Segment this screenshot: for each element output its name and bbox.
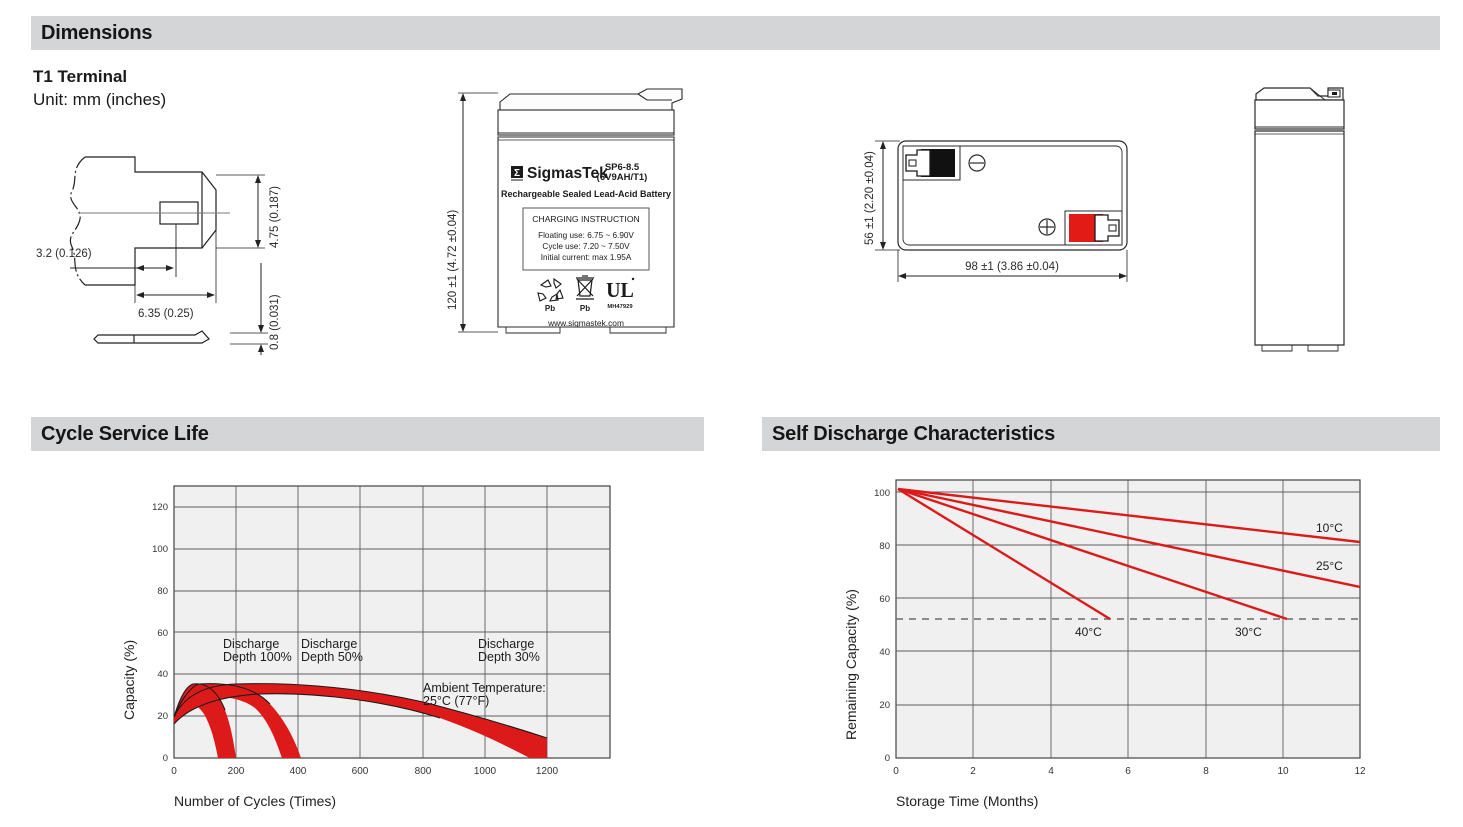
series-label-30c: 30°C (1235, 625, 1262, 639)
svg-text:Discharge: Discharge (223, 637, 279, 651)
series-label-10c: 10°C (1316, 521, 1343, 535)
charging-line-1: Cycle use: 7.20 ~ 7.50V (542, 242, 630, 251)
section-header-self-discharge: Self Discharge Characteristics (762, 417, 1440, 451)
section-header-cycle-service-life: Cycle Service Life (31, 417, 704, 451)
positive-sign-icon (1039, 219, 1055, 235)
ul-file-number: MH47929 (607, 304, 633, 310)
svg-text:0: 0 (163, 753, 168, 764)
dim-height-label: 4.75 (0.187) (269, 186, 281, 248)
svg-text:Depth 50%: Depth 50% (301, 650, 363, 664)
svg-text:80: 80 (879, 541, 890, 552)
svg-text:0: 0 (893, 766, 899, 777)
svg-text:100: 100 (152, 544, 168, 555)
self-x-ticks: 0 2 4 6 8 10 12 (893, 766, 1366, 777)
dim-thickness-label: 0.8 (0.031) (269, 294, 281, 350)
svg-text:0: 0 (885, 753, 890, 764)
battery-subtitle: Rechargeable Sealed Lead-Acid Battery (501, 189, 671, 199)
self-discharge-chart: 0 20 40 60 80 100 0 2 4 6 8 10 12 10°C 2… (820, 470, 1390, 815)
website-label: www.sigmastek.com (547, 318, 624, 328)
battery-top-view: 56 ±1 (2.20 ±0.04) 98 ±1 (3.86 ±0.04) (820, 110, 1140, 290)
battery-width-dim: 98 ±1 (3.86 ±0.04) (965, 261, 1059, 273)
svg-text:40: 40 (157, 669, 168, 680)
cycle-y-axis-label: Capacity (%) (121, 640, 137, 720)
series-label-40c: 40°C (1075, 625, 1102, 639)
cycle-x-ticks: 0 200 400 600 800 1000 1200 (171, 766, 558, 777)
wheelie-pb-label: Pb (580, 304, 590, 313)
battery-label-brand: Σ SigmasTek SP6-8.5 (6V9AH/T1) (511, 162, 647, 183)
svg-text:Discharge: Discharge (301, 637, 357, 651)
battery-height-dim: 120 ±1 (4.72 ±0.04) (447, 210, 459, 310)
negative-terminal (903, 146, 960, 180)
svg-text:1000: 1000 (474, 766, 497, 777)
section-title: Self Discharge Characteristics (772, 423, 1055, 446)
section-title: Dimensions (41, 22, 152, 45)
svg-text:60: 60 (157, 628, 168, 639)
cycle-y-ticks: 0 20 40 60 80 100 120 (152, 502, 168, 764)
svg-text:60: 60 (879, 594, 890, 605)
svg-text:10: 10 (1277, 766, 1289, 777)
cycle-plot-area (174, 486, 610, 758)
negative-sign-icon (969, 155, 985, 171)
section-header-dimensions: Dimensions (31, 16, 1440, 50)
svg-text:100: 100 (874, 488, 890, 499)
svg-text:6: 6 (1125, 766, 1131, 777)
charging-title: CHARGING INSTRUCTION (532, 214, 639, 224)
svg-text:Depth 100%: Depth 100% (223, 650, 292, 664)
svg-text:4: 4 (1048, 766, 1054, 777)
svg-text:400: 400 (290, 766, 307, 777)
self-y-axis-label: Remaining Capacity (%) (843, 589, 859, 740)
cycle-service-life-chart: 0 20 40 60 80 100 120 0 200 400 600 800 … (110, 470, 650, 815)
svg-text:20: 20 (157, 711, 168, 722)
svg-text:Ambient Temperature:: Ambient Temperature: (423, 681, 546, 695)
battery-depth-dim: 56 ±1 (2.20 ±0.04) (864, 151, 876, 245)
positive-terminal (1065, 211, 1122, 245)
battery-front-view: 120 ±1 (4.72 ±0.04) Σ SigmasTek SP6-8.5 … (410, 80, 720, 350)
self-y-ticks: 0 20 40 60 80 100 (874, 488, 890, 764)
section-title: Cycle Service Life (41, 423, 209, 446)
svg-text:80: 80 (157, 586, 168, 597)
svg-text:600: 600 (352, 766, 369, 777)
terminal-drawing: 3.2 (0.126) 6.35 (0.25) 4.75 (0.187) 0.8… (30, 135, 330, 370)
svg-text:200: 200 (228, 766, 245, 777)
t1-unit-label: Unit: mm (inches) (33, 89, 166, 110)
svg-text:800: 800 (415, 766, 432, 777)
svg-text:Depth 30%: Depth 30% (478, 650, 540, 664)
svg-text:Discharge: Discharge (478, 637, 534, 651)
datasheet-page: Dimensions T1 Terminal Unit: mm (inches) (0, 0, 1463, 827)
model-spec: (6V9AH/T1) (597, 172, 648, 183)
svg-text:20: 20 (879, 700, 890, 711)
svg-text:1200: 1200 (536, 766, 559, 777)
t1-terminal-heading: T1 Terminal (33, 66, 127, 87)
series-label-25c: 25°C (1316, 559, 1343, 573)
cycle-x-axis-label: Number of Cycles (Times) (174, 793, 336, 809)
svg-text:8: 8 (1203, 766, 1209, 777)
svg-text:UL: UL (606, 277, 634, 302)
charging-line-2: Initial current: max 1.95A (541, 253, 632, 262)
battery-side-view (1240, 80, 1360, 365)
svg-text:120: 120 (152, 502, 168, 513)
recycle-pb-label: Pb (545, 304, 555, 313)
svg-text:40: 40 (879, 647, 890, 658)
dim-width-label: 6.35 (0.25) (138, 308, 194, 320)
svg-text:12: 12 (1354, 766, 1366, 777)
charging-line-0: Floating use: 6.75 ~ 6.90V (538, 231, 634, 240)
svg-text:0: 0 (171, 766, 177, 777)
svg-text:2: 2 (970, 766, 976, 777)
dim-offset-label: 3.2 (0.126) (36, 248, 92, 260)
self-x-axis-label: Storage Time (Months) (896, 793, 1038, 809)
ul-mark-icon: UL (606, 277, 634, 302)
svg-text:25°C (77°F): 25°C (77°F) (423, 694, 489, 708)
sigma-icon: Σ (514, 168, 520, 179)
